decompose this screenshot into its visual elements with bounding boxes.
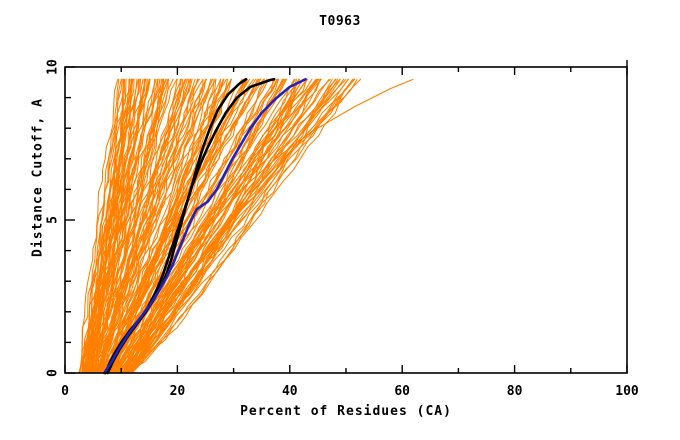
x-tick-label: 60 [394, 384, 410, 399]
x-tick-label: 100 [615, 384, 639, 399]
plot-area: 0204060801000510 [0, 0, 680, 440]
y-tick-label: 5 [46, 216, 61, 224]
x-tick-label: 80 [507, 384, 523, 399]
x-tick-label: 0 [61, 384, 69, 399]
prediction-ensemble-orange [79, 79, 414, 373]
x-tick-label: 20 [170, 384, 186, 399]
x-tick-label: 40 [282, 384, 298, 399]
chart-container: T0963 Distance Cutoff, A Percent of Resi… [0, 0, 680, 440]
y-tick-label: 10 [46, 59, 61, 75]
y-tick-label: 0 [46, 369, 61, 377]
